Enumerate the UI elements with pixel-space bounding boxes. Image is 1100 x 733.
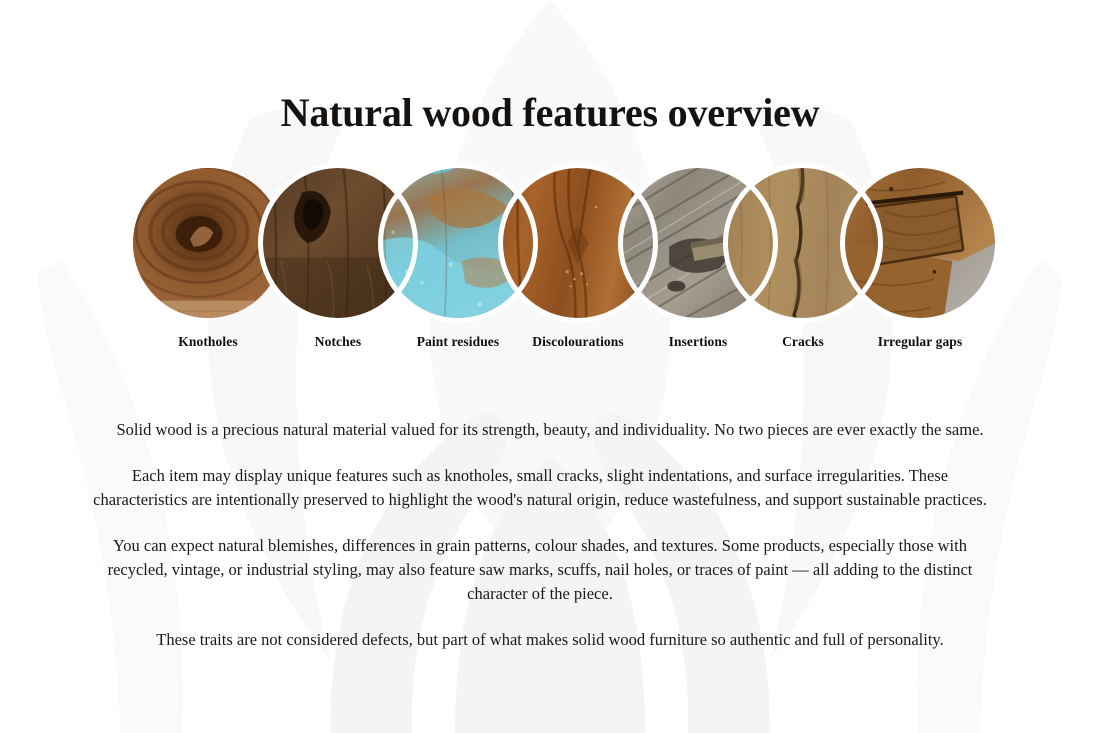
page-title: Natural wood features overview xyxy=(0,89,1100,136)
page-root: Natural wood features overview xyxy=(0,0,1100,733)
irregular-gap-wood-circle[interactable] xyxy=(845,168,995,318)
body-paragraph-3: You can expect natural blemishes, differ… xyxy=(90,534,990,606)
body-paragraph-1: Solid wood is a precious natural materia… xyxy=(90,418,1010,442)
body-paragraph-4: These traits are not considered defects,… xyxy=(90,628,1010,652)
knothole-wood-circle[interactable] xyxy=(133,168,283,318)
feature-label: Irregular gaps xyxy=(820,334,1020,350)
body-paragraph-2: Each item may display unique features su… xyxy=(90,464,990,512)
body-copy: Solid wood is a precious natural materia… xyxy=(90,418,1010,651)
feature-circle-strip: Knotholes xyxy=(0,168,1100,358)
